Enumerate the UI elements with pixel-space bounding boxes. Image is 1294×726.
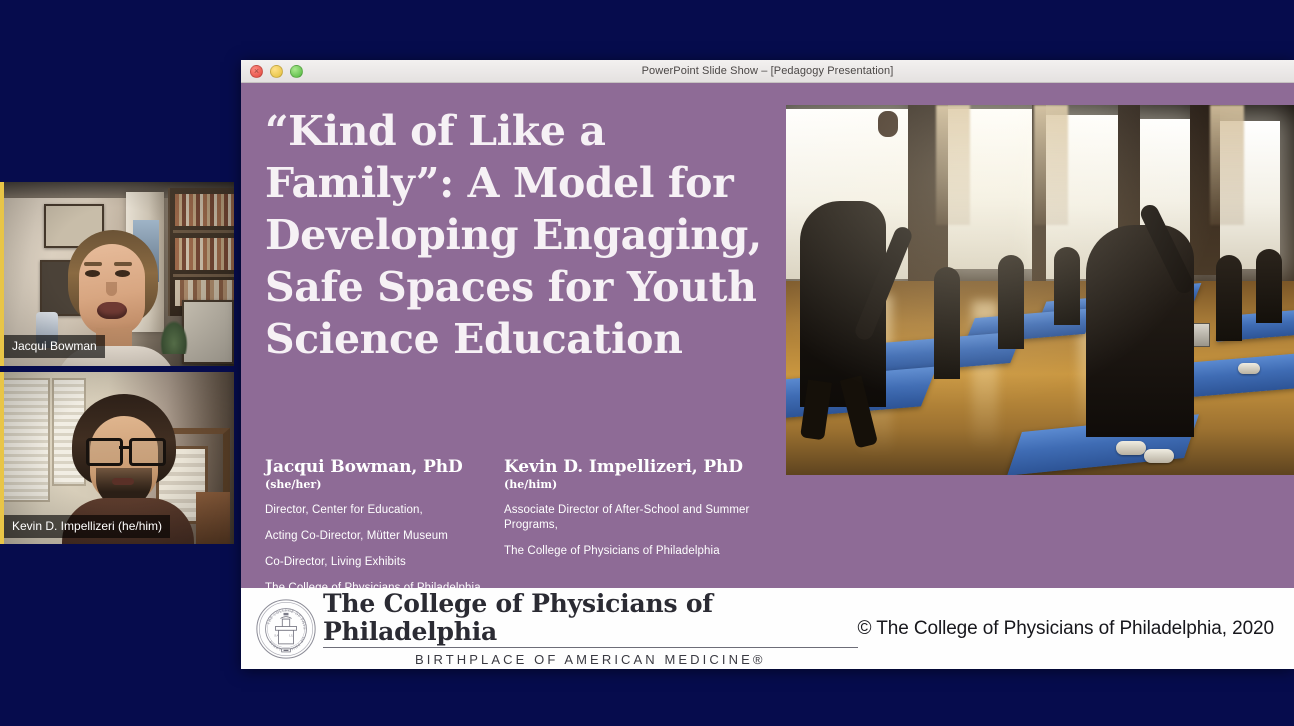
presenter-name: Jacqui Bowman, PhD bbox=[265, 457, 490, 477]
participant-name-label: Jacqui Bowman bbox=[4, 335, 105, 358]
close-window-button[interactable]: × bbox=[250, 65, 263, 78]
presenter-role: The College of Physicians of Philadelphi… bbox=[504, 544, 784, 559]
presenter-roles: Director, Center for Education, Acting C… bbox=[265, 503, 490, 596]
presenter-name: Kevin D. Impellizeri, PhD bbox=[504, 457, 784, 477]
slide-canvas: “Kind of Like a Family”: A Model for Dev… bbox=[241, 83, 1294, 669]
svg-text:SA: SA bbox=[274, 633, 279, 637]
presenter-role: Director, Center for Education, bbox=[265, 503, 490, 518]
participant-name-label: Kevin D. Impellizeri (he/him) bbox=[4, 515, 170, 538]
window-controls: × bbox=[250, 65, 303, 78]
presenter-block-1: Jacqui Bowman, PhD (she/her) Director, C… bbox=[265, 457, 490, 596]
presentation-window[interactable]: × PowerPoint Slide Show – [Pedagogy Pres… bbox=[241, 60, 1294, 669]
slide-title: “Kind of Like a Family”: A Model for Dev… bbox=[265, 105, 765, 365]
close-icon: × bbox=[251, 66, 262, 77]
college-seal-icon: THE COLLEGE OF PHYSICIANS OF PHILADELPHI… bbox=[255, 598, 317, 660]
window-titlebar[interactable]: × PowerPoint Slide Show – [Pedagogy Pres… bbox=[241, 60, 1294, 83]
zoom-window-button[interactable] bbox=[290, 65, 303, 78]
presenter-role: Associate Director of After-School and S… bbox=[504, 503, 784, 533]
minimize-window-button[interactable] bbox=[270, 65, 283, 78]
college-logo-name: The College of Physicians of Philadelphi… bbox=[323, 590, 858, 648]
presenter-role: Co-Director, Living Exhibits bbox=[265, 555, 490, 570]
meeting-screen: Jacqui Bowman Kev bbox=[0, 0, 1294, 726]
window-title: PowerPoint Slide Show – [Pedagogy Presen… bbox=[241, 65, 1294, 77]
copyright-text: © The College of Physicians of Philadelp… bbox=[858, 618, 1274, 640]
presenter-pronouns: (he/him) bbox=[504, 478, 784, 492]
slide-photo-yoga-class bbox=[786, 105, 1294, 475]
slide-footer: THE COLLEGE OF PHYSICIANS OF PHILADELPHI… bbox=[241, 588, 1294, 669]
participant-tile-jacqui-bowman[interactable]: Jacqui Bowman bbox=[0, 182, 234, 366]
college-logo-text: The College of Physicians of Philadelphi… bbox=[323, 590, 858, 669]
college-logo: THE COLLEGE OF PHYSICIANS OF PHILADELPHI… bbox=[255, 590, 858, 669]
college-logo-tagline: BIRTHPLACE OF AMERICAN MEDICINE® bbox=[323, 651, 858, 669]
presenter-block-2: Kevin D. Impellizeri, PhD (he/him) Assoc… bbox=[504, 457, 784, 559]
presenter-roles: Associate Director of After-School and S… bbox=[504, 503, 784, 559]
svg-text:LU: LU bbox=[289, 633, 294, 637]
presenter-pronouns: (she/her) bbox=[265, 478, 490, 492]
participant-tile-kevin-impellizeri[interactable]: Kevin D. Impellizeri (he/him) bbox=[0, 372, 234, 544]
presenter-role: Acting Co-Director, Mütter Museum bbox=[265, 529, 490, 544]
